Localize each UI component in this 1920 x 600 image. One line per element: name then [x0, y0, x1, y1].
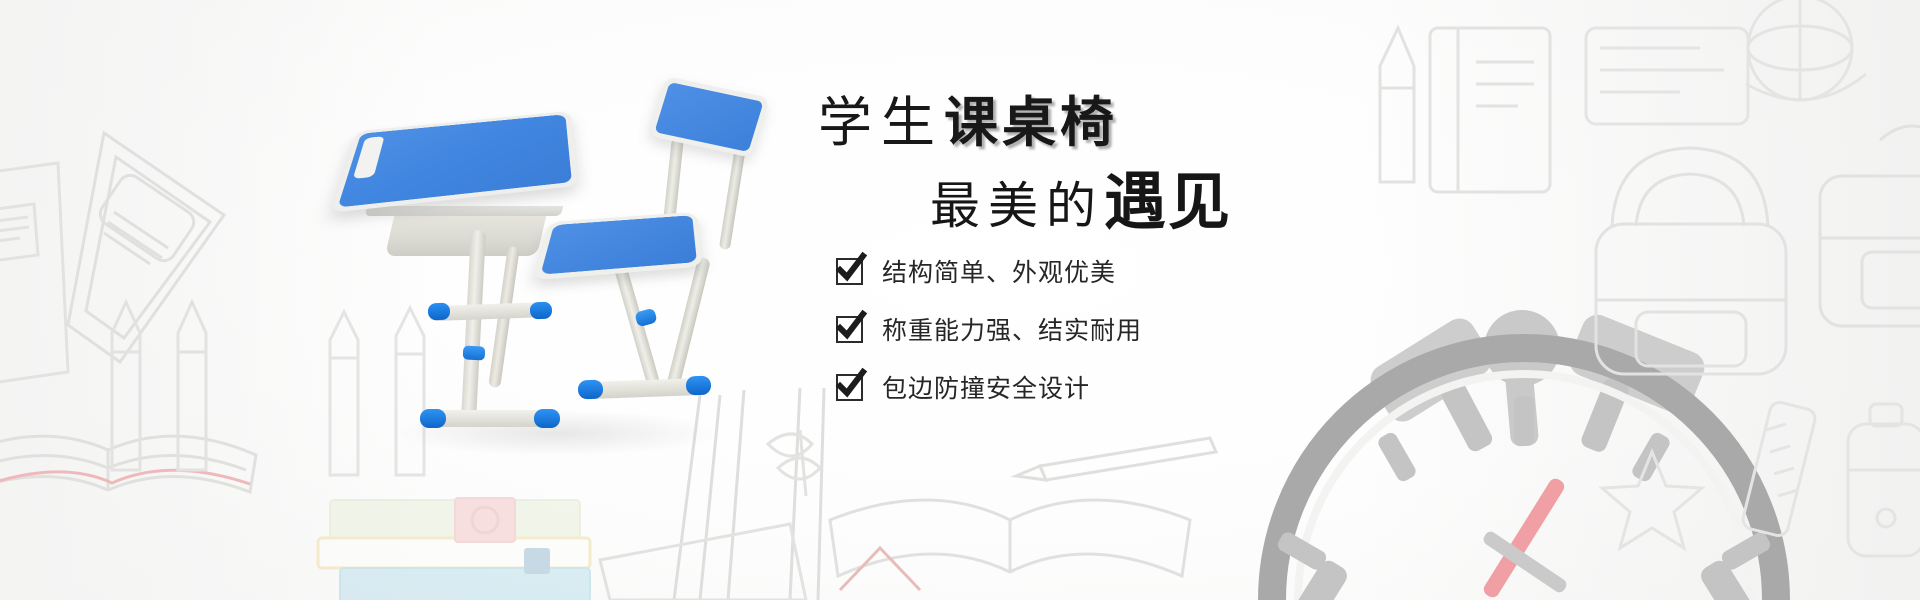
desk-crossbar-cap-right: [530, 302, 553, 320]
desk-top: [330, 111, 578, 213]
satchel-outline: [1820, 126, 1920, 326]
promo-banner: 学生课桌椅 最美的遇见 结构简单、外观优美 称重能力强、结实耐用: [0, 0, 1920, 600]
feature-label: 包边防撞安全设计: [882, 369, 1090, 405]
desk-drawer: [385, 212, 547, 256]
feature-list: 结构简单、外观优美 称重能力强、结实耐用 包边防撞安全设计: [836, 248, 1142, 422]
headline-line-1: 学生课桌椅: [818, 96, 1288, 150]
pencil-right-outline: [1380, 28, 1414, 182]
check-icon: [836, 258, 863, 285]
headline-keyword: 课桌椅: [944, 93, 1118, 153]
headline-emphasis: 遇见: [1104, 169, 1232, 237]
desk-height-collar: [463, 345, 486, 360]
desk-top-surface: [338, 114, 572, 207]
product-photo-desk-and-chair: [330, 80, 770, 500]
chair-leg-front: [613, 261, 661, 388]
feature-item: 结构简单、外观优美: [836, 248, 1142, 294]
notebook-right-outline: [1430, 28, 1550, 192]
board-outline: [1586, 28, 1748, 124]
feature-label: 结构简单、外观优美: [882, 253, 1116, 289]
headline: 学生课桌椅 最美的遇见: [818, 96, 1288, 234]
chair-foot-cap-right: [686, 376, 712, 396]
globe-outline: [1746, 0, 1866, 100]
chair-seat-surface: [540, 215, 696, 274]
chair-leg-rear: [666, 256, 711, 389]
bottle-outline: [1848, 404, 1920, 556]
desk-foot-cap-right: [534, 409, 560, 428]
feature-item: 称重能力强、结实耐用: [836, 306, 1142, 352]
check-icon: [836, 374, 863, 401]
desk-leg-front: [461, 230, 486, 421]
chair-foot-cap-left: [578, 380, 604, 400]
open-book-outline: [0, 436, 256, 492]
book-stack: [318, 498, 590, 600]
book-outline: [68, 133, 224, 362]
desk-top-edge: [365, 206, 563, 216]
feature-item: 包边防撞安全设计: [836, 364, 1142, 410]
notebook-outline: [0, 163, 68, 385]
desk-pen-groove: [353, 136, 385, 179]
desk-crossbar-cap-left: [428, 303, 451, 321]
desk-foot-cap-left: [420, 409, 446, 428]
pen-outline: [1016, 438, 1216, 480]
chair-backrest: [648, 76, 770, 158]
feature-label: 称重能力强、结实耐用: [882, 311, 1142, 347]
headline-prefix: 学生: [818, 93, 944, 153]
alarm-clock-watermark: [1272, 310, 1776, 600]
open-book-outline-center: [830, 500, 1190, 576]
chair-seat: [532, 212, 703, 281]
headline-line-2: 最美的遇见: [930, 172, 1288, 234]
check-icon: [836, 316, 863, 343]
headline-subprefix: 最美的: [930, 178, 1104, 234]
